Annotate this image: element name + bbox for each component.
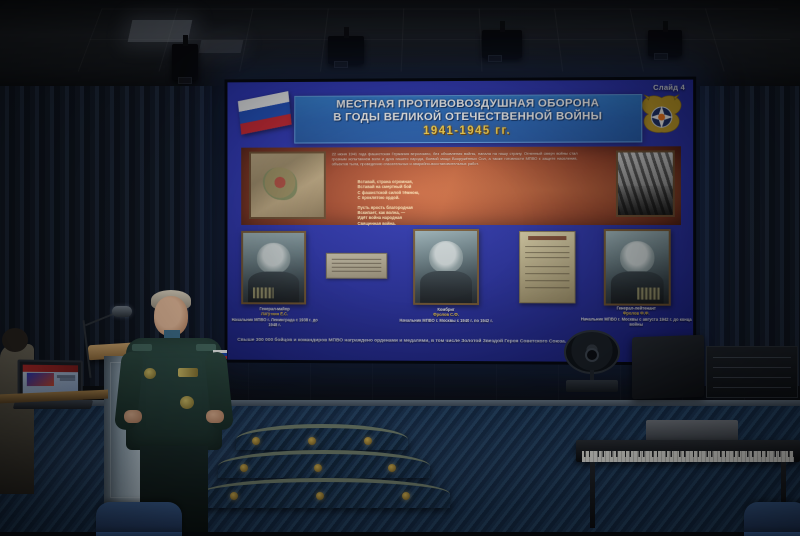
portrait-rank: Комбриг bbox=[437, 307, 454, 312]
slide-number-label: Слайд 4 bbox=[653, 83, 685, 92]
laptop-text-line bbox=[60, 378, 75, 381]
laptop-slide-thumbnail bbox=[27, 373, 54, 386]
russian-flag-icon bbox=[238, 91, 292, 135]
projection-screen: Слайд 4 bbox=[225, 77, 697, 366]
verse-line: Священная война. bbox=[358, 221, 538, 226]
portrait-photo bbox=[241, 231, 306, 305]
ceiling-stage-light bbox=[328, 36, 364, 64]
presenter-hand bbox=[124, 410, 142, 423]
presenter-hand bbox=[206, 410, 224, 423]
ceiling-stage-light bbox=[172, 44, 198, 80]
historical-map-image bbox=[249, 151, 326, 219]
portrait-role-line: г. Москвы с 1940 г. по 1942 г. bbox=[436, 318, 493, 323]
piano-body bbox=[576, 440, 800, 462]
slide-title-line2: В ГОДЫ ВЕЛИКОЙ ОТЕЧЕСТВЕННОЙ ВОЙНЫ bbox=[295, 110, 641, 125]
portrait-role-line: Начальник МПВО г. bbox=[232, 317, 270, 322]
piano-leg bbox=[590, 462, 595, 528]
song-verse: Вставай, страна огромная, Вставай на сме… bbox=[358, 179, 538, 226]
slide-text-banner: 22 июня 1941 года фашистская Германия ве… bbox=[241, 146, 681, 225]
auditorium-chair bbox=[96, 502, 182, 536]
portrait-caption: Комбриг Фролов С.Ф. Начальник МПВО г. Мо… bbox=[393, 307, 499, 323]
scene-root: Слайд 4 bbox=[0, 0, 800, 532]
operator-head bbox=[2, 328, 28, 352]
ceiling-stage-light bbox=[482, 30, 522, 58]
slide-title-bar: МЕСТНАЯ ПРОТИВОВОЗДУШНАЯ ОБОРОНА В ГОДЫ … bbox=[294, 94, 642, 144]
stage-step bbox=[200, 478, 450, 508]
stage-step bbox=[236, 424, 408, 450]
portrait-photo bbox=[604, 229, 671, 306]
side-drape-right bbox=[700, 86, 800, 386]
uniform-badge bbox=[144, 368, 156, 379]
piano-music-stand bbox=[646, 420, 738, 442]
small-document-image bbox=[326, 253, 387, 279]
portrait-role-line: Начальник МПВО г. bbox=[581, 316, 620, 321]
floor-fan bbox=[556, 330, 628, 392]
uniform-badge bbox=[180, 396, 194, 409]
portrait-caption: Генерал-майор Лагуткин Е.С. Начальник МП… bbox=[229, 306, 319, 327]
auditorium-chair bbox=[744, 502, 800, 536]
slide-paragraph: 22 июня 1941 года фашистская Германия ве… bbox=[332, 152, 578, 167]
portrait-photo bbox=[413, 229, 479, 305]
microphone-head bbox=[112, 306, 132, 317]
portrait-role-line: Начальник МПВО bbox=[399, 317, 434, 322]
portrait-caption: Генерал-лейтенант Фролов Ф.Ф. Начальник … bbox=[580, 305, 694, 327]
stage-monitor-speaker bbox=[632, 335, 704, 400]
ceiling-light-panel-secondary bbox=[199, 40, 244, 53]
emercom-eagle-emblem-icon bbox=[636, 92, 687, 145]
order-document-image bbox=[519, 231, 575, 303]
uniform-nameplate bbox=[178, 368, 198, 377]
presentation-slide: Слайд 4 bbox=[227, 80, 693, 363]
portrait-role-line: 1948 г. bbox=[268, 322, 280, 327]
wartime-photo-image bbox=[616, 150, 675, 217]
piano-black-keys bbox=[582, 451, 794, 457]
stage-step bbox=[218, 450, 430, 478]
ceiling-stage-light bbox=[648, 30, 682, 56]
operator-laptop bbox=[14, 360, 92, 416]
slide-title-years: 1941-1945 гг. bbox=[295, 123, 641, 138]
laptop-app-titlebar bbox=[23, 365, 78, 373]
audio-equipment-rack bbox=[706, 346, 798, 398]
